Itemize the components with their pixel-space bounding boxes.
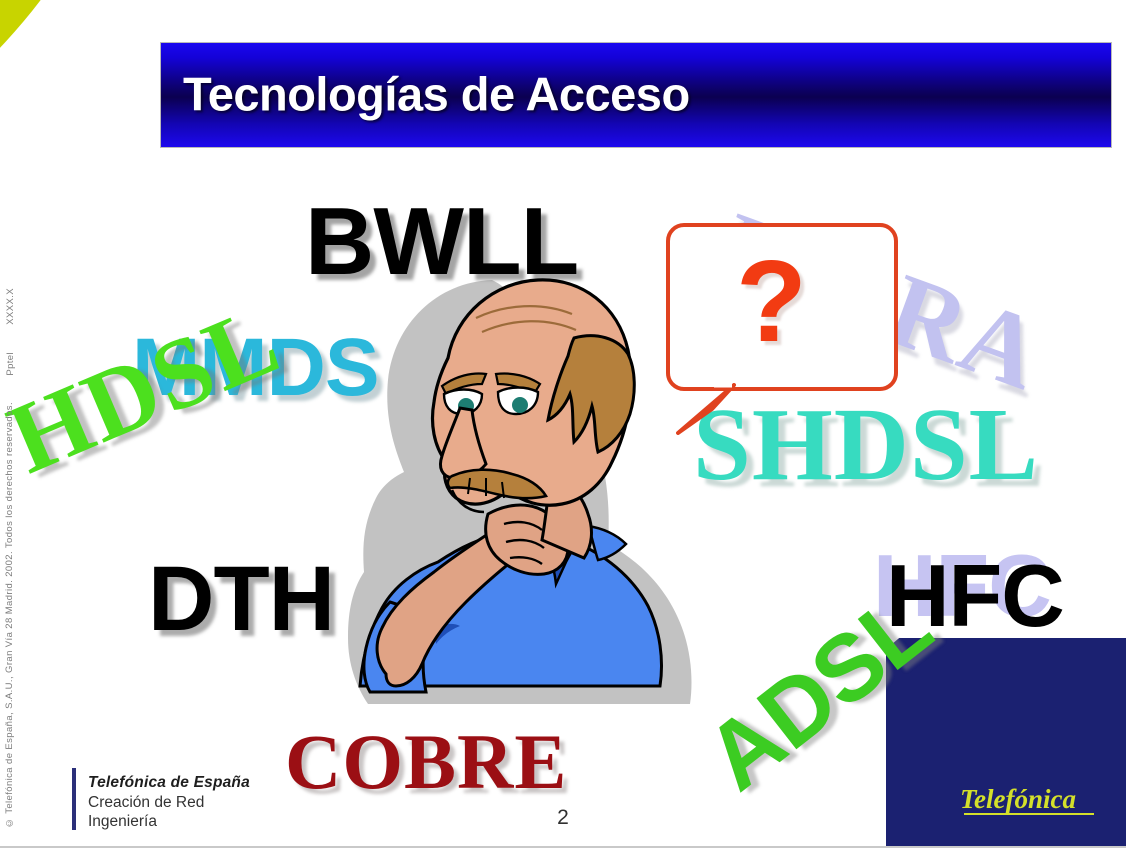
thinking-man-illustration [330,262,720,722]
page-title: Tecnologías de Acceso [183,66,690,121]
footer-line-company: Telefónica de España [88,773,250,793]
word-cobre: COBRE [285,723,567,801]
word-shdsl: SHDSL [693,393,1039,497]
word-hdsl: HDSL [0,288,293,490]
title-bar: Tecnologías de Acceso [160,42,1112,148]
copyright-vertical-text: © Telefónica de España, S.A.U., Gran Vía… [4,402,15,828]
doc-code-vertical-text: XXXX.X [5,288,16,325]
deck-code-vertical-text: Pptel [5,352,16,376]
green-corner-decoration [0,0,172,196]
slide-canvas: Tecnologías de Acceso BWLL MMDS DTH HDSL… [0,0,1126,848]
question-mark-icon: ? [736,243,807,359]
telefonica-logo: Telefónica [956,778,1106,824]
speech-bubble-tail [676,383,736,435]
word-dth: DTH [148,553,334,645]
telefonica-logo-text: Telefónica [960,784,1076,814]
